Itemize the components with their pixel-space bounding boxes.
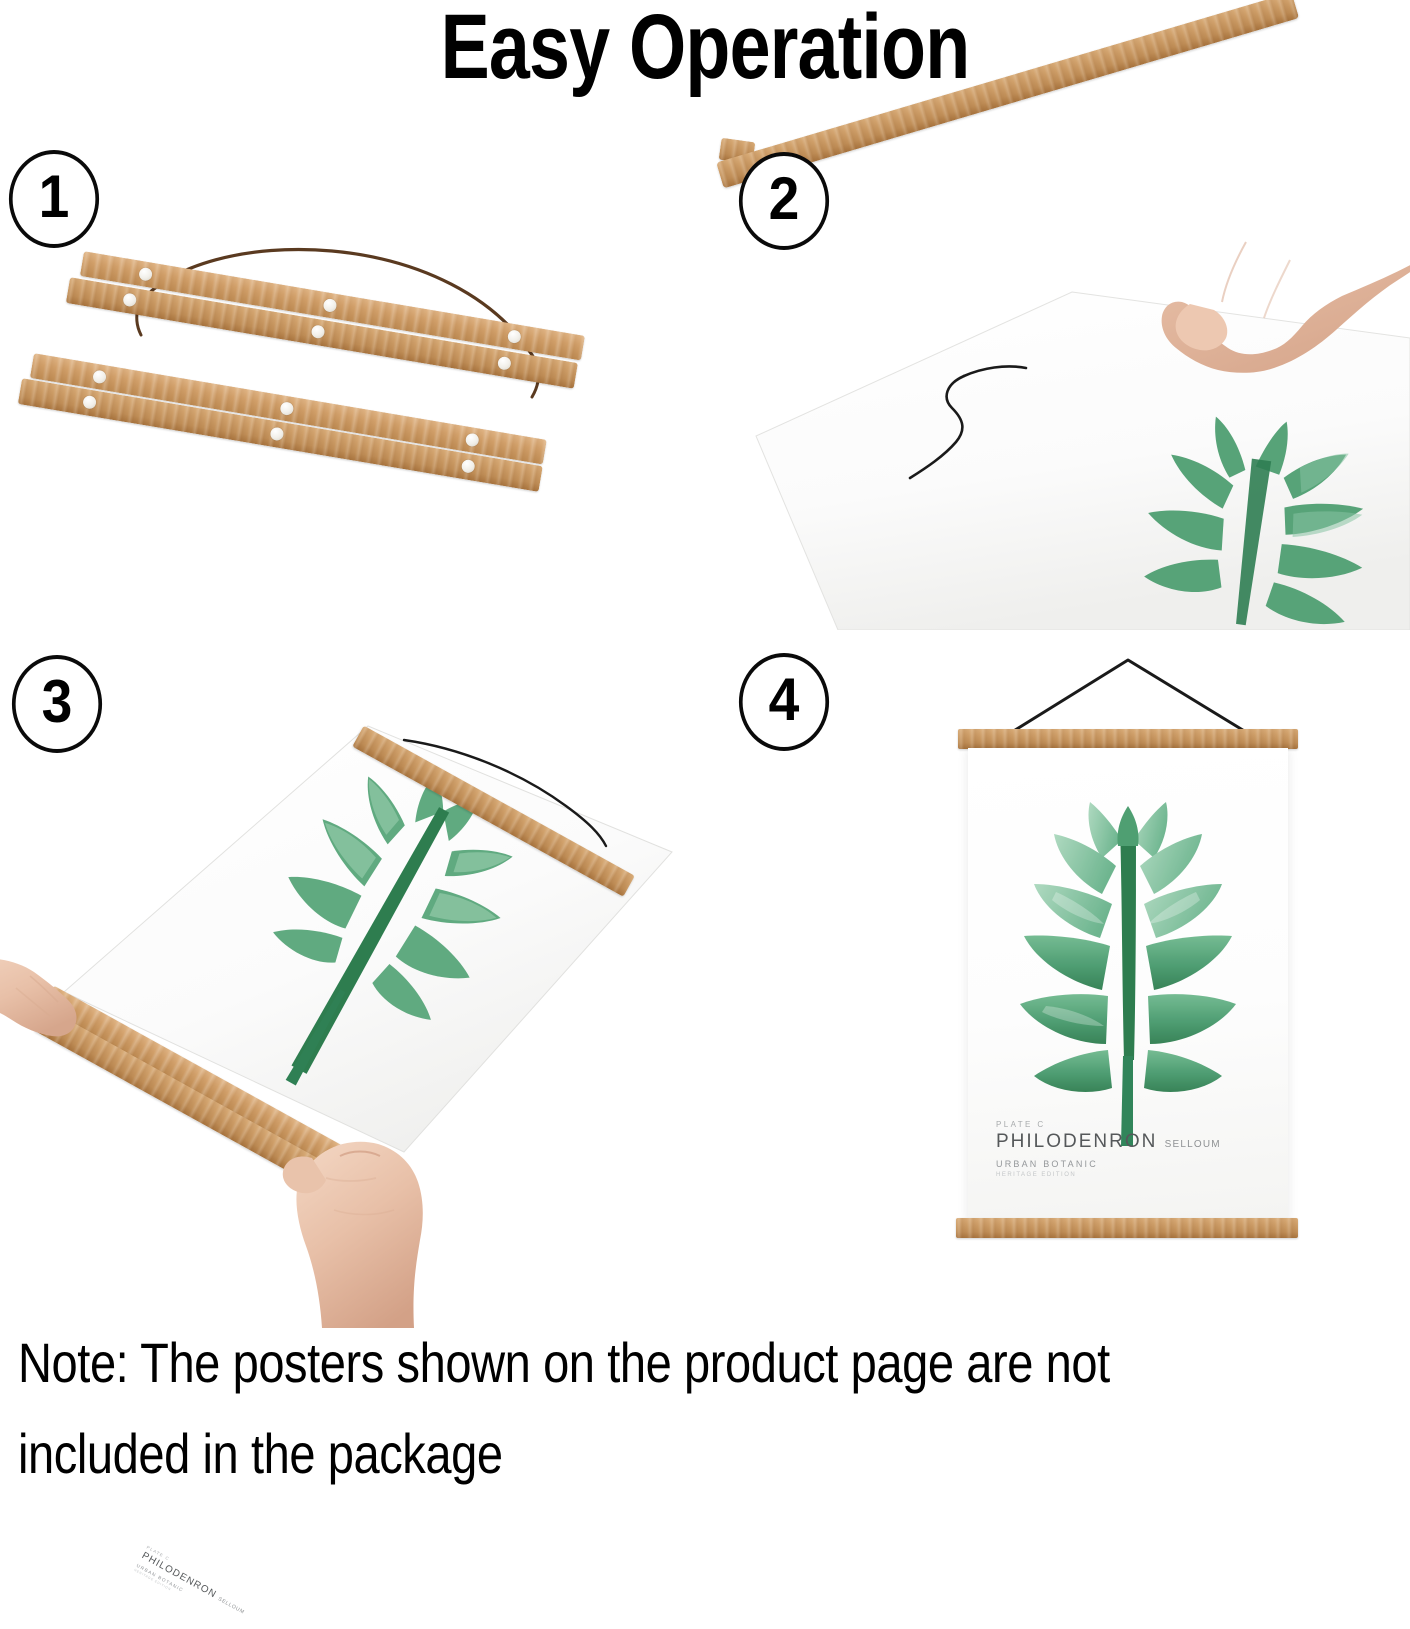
magnet-dot-icon xyxy=(507,329,522,344)
poster-plate-label: PLATE C xyxy=(996,1120,1221,1130)
step-badge-4-number: 4 xyxy=(769,670,800,730)
magnet-dot-icon xyxy=(279,401,294,416)
magnet-dot-icon xyxy=(138,267,153,282)
magnet-dot-icon xyxy=(497,356,512,371)
poster-species-label: PHILODENRON SELLOUM xyxy=(996,1130,1221,1154)
magnet-dot-icon xyxy=(92,369,107,384)
philodendron-leaf-icon xyxy=(996,800,1260,1150)
frame-rail-top xyxy=(958,729,1298,749)
magnet-dot-icon xyxy=(311,324,326,339)
poster-sheet: PLATE C PHILODENRON SELLOUM URBAN BOTANI… xyxy=(968,748,1288,1220)
hand-icon xyxy=(1050,134,1410,464)
magnet-dot-icon xyxy=(82,395,97,410)
step-badge-3: 3 xyxy=(12,655,102,753)
easy-operation-infographic: Easy Operation 1 xyxy=(0,0,1410,1497)
poster-brand-label: URBAN BOTANIC xyxy=(996,1159,1221,1170)
poster-tiny-label: HERITAGE EDITION xyxy=(996,1172,1221,1180)
magnet-dot-icon xyxy=(269,426,284,441)
note-text: Note: The posters shown on the product p… xyxy=(18,1318,1177,1499)
magnet-dot-icon xyxy=(322,298,337,313)
step-1-illustration xyxy=(40,215,660,545)
step-badge-2-number: 2 xyxy=(769,169,800,229)
magnet-dot-icon xyxy=(465,432,480,447)
step-badge-3-number: 3 xyxy=(42,672,73,732)
step-badge-4: 4 xyxy=(739,653,829,751)
step-badge-1-number: 1 xyxy=(39,167,70,227)
poster-caption: PLATE C PHILODENRON SELLOUM URBAN BOTANI… xyxy=(996,1120,1221,1180)
step-badge-2: 2 xyxy=(739,152,829,250)
hand-icon xyxy=(0,940,112,1090)
step-3-illustration: PLATE C PHILODENRON SELLOUM URBAN BOTANI… xyxy=(0,640,700,1290)
poster-caption: PLATE C PHILODENRON SELLOUM URBAN BOTANI… xyxy=(133,1545,250,1629)
step-4-illustration: PLATE C PHILODENRON SELLOUM URBAN BOTANI… xyxy=(900,640,1410,1290)
frame-rail-bottom xyxy=(956,1218,1298,1238)
magnet-dot-icon xyxy=(461,459,476,474)
magnet-dot-icon xyxy=(122,292,137,307)
hand-icon xyxy=(278,1138,498,1328)
step-badge-1: 1 xyxy=(9,150,99,248)
